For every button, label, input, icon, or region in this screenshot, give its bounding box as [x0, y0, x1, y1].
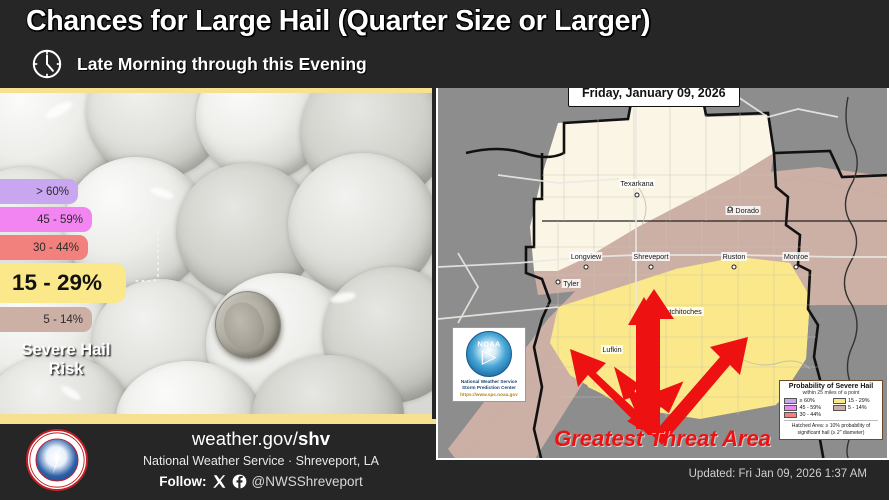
risk-caption-line1: Severe Hail [0, 341, 132, 360]
header-bar: Chances for Large Hail (Quarter Size or … [0, 0, 889, 88]
footer-updated-timestamp: Updated: Fri Jan 09, 2026 1:37 AM [689, 468, 867, 480]
risk-bar-15-29-highlighted: 15 - 29% [0, 263, 126, 303]
risk-bar-label: > 60% [36, 186, 69, 198]
facebook-icon[interactable] [232, 474, 247, 489]
risk-bar-5-14: 5 - 14% [0, 307, 92, 332]
severe-hail-outlook-map[interactable]: Highlighted Area: NWS Shreveport, LA Las… [436, 55, 889, 460]
footer-url-plain: weather.gov/ [192, 428, 298, 449]
risk-bar-label: 15 - 29% [12, 270, 102, 296]
risk-bar-45-59: 45 - 59% [0, 207, 92, 232]
severe-hail-risk-legend: > 60% 45 - 59% 30 - 44% 15 - 29% 5 - 14%… [0, 179, 132, 380]
footer-text-block: weather.gov/shv National Weather Service… [96, 428, 426, 489]
footer-follow-row: Follow: @NWSShreveport [96, 474, 426, 489]
risk-bar-label: 45 - 59% [37, 214, 83, 226]
social-handle: @NWSShreveport [252, 474, 363, 489]
x-twitter-icon[interactable] [212, 474, 227, 489]
nws-seal-icon [26, 429, 88, 491]
header-subrow: Late Morning through this Evening [30, 47, 367, 81]
risk-bar-30-44: 30 - 44% [0, 235, 88, 260]
footer-url-bold: shv [298, 428, 330, 449]
seal-ring-text [28, 431, 86, 489]
risk-legend-caption: Severe Hail Risk [0, 341, 132, 380]
footer-url: weather.gov/shv [96, 428, 426, 450]
weather-graphic: Chances for Large Hail (Quarter Size or … [0, 0, 889, 500]
footer-office: National Weather Service · Shreveport, L… [96, 454, 426, 468]
risk-bar-gt60: > 60% [0, 179, 78, 204]
risk-caption-line2: Risk [0, 360, 132, 379]
risk-bar-label: 30 - 44% [33, 242, 79, 254]
risk-bar-label: 5 - 14% [43, 314, 83, 326]
dotted-connector [128, 201, 174, 291]
follow-label: Follow: [159, 474, 206, 489]
page-title: Chances for Large Hail (Quarter Size or … [26, 5, 876, 38]
greatest-threat-area-label: Greatest Threat Area [438, 426, 887, 452]
photo-bottom-rule [0, 419, 436, 424]
hail-photo-panel: > 60% 45 - 59% 30 - 44% 15 - 29% 5 - 14%… [0, 88, 432, 419]
threat-arrows [438, 57, 889, 460]
header-subtitle: Late Morning through this Evening [77, 54, 367, 75]
clock-icon [30, 47, 64, 81]
